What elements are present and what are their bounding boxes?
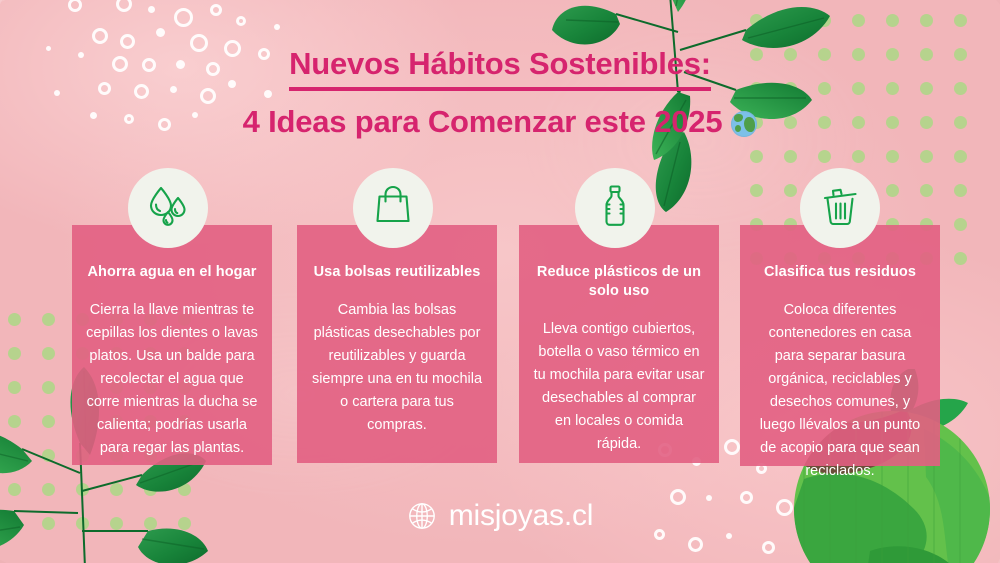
icon-circle-shopping-bag — [353, 168, 433, 248]
globe-web-icon — [407, 501, 437, 531]
card-reduce-plasticos: Reduce plásticos de un solo uso Lleva co… — [519, 225, 719, 463]
page-title-line-2-text: 4 Ideas para Comenzar este 2025 — [243, 104, 723, 139]
icon-circle-plastic-bottle — [575, 168, 655, 248]
trash-can-icon — [817, 183, 863, 234]
card-title: Reduce plásticos de un solo uso — [533, 263, 705, 301]
earth-globe-emoji — [731, 111, 757, 137]
card-body: Coloca diferentes contenedores en casa p… — [754, 299, 926, 483]
card-clasifica-residuos: Clasifica tus residuos Coloca diferentes… — [740, 225, 940, 466]
icon-circle-water-drops — [128, 168, 208, 248]
poster-title-block: Nuevos Hábitos Sostenibles: 4 Ideas para… — [0, 44, 1000, 142]
page-title-line-1: Nuevos Hábitos Sostenibles: — [289, 44, 711, 91]
infographic-poster: Nuevos Hábitos Sostenibles: 4 Ideas para… — [0, 0, 1000, 563]
card-title: Ahorra agua en el hogar — [86, 263, 258, 282]
footer-website-label: misjoyas.cl — [449, 499, 594, 533]
card-title: Usa bolsas reutilizables — [311, 263, 483, 282]
card-body: Cambia las bolsas plásticas desechables … — [311, 299, 483, 437]
shopping-bag-icon — [370, 183, 416, 234]
icon-circle-trash-can — [800, 168, 880, 248]
plastic-bottle-icon — [593, 184, 637, 233]
card-bolsas-reutilizables: Usa bolsas reutilizables Cambia las bols… — [297, 225, 497, 463]
card-body: Cierra la llave mientras te cepillas los… — [86, 299, 258, 460]
card-ahorra-agua: Ahorra agua en el hogar Cierra la llave … — [72, 225, 272, 465]
water-drops-icon — [144, 182, 192, 235]
card-body: Lleva contigo cubiertos, botella o vaso … — [533, 318, 705, 456]
footer-brand: misjoyas.cl — [0, 499, 1000, 533]
page-title-line-2: 4 Ideas para Comenzar este 2025 — [0, 102, 1000, 142]
card-title: Clasifica tus residuos — [754, 263, 926, 282]
